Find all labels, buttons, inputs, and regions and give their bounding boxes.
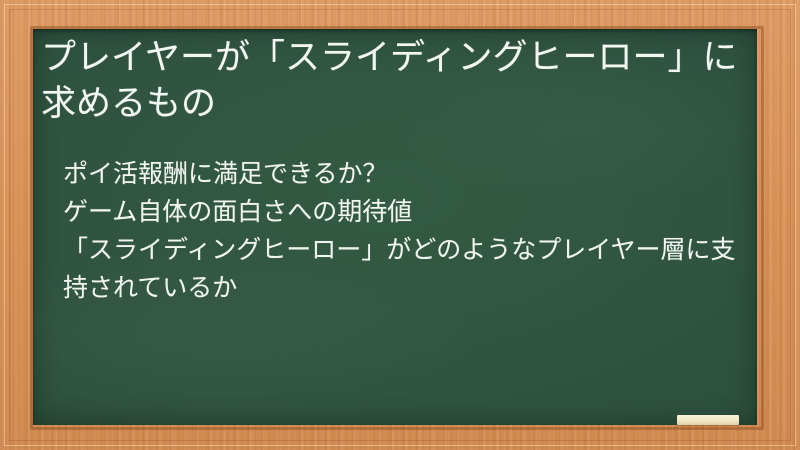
bullet-item-2: ゲーム自体の面白さへの期待値 — [41, 193, 741, 231]
slide-title: プレイヤーが「スライディングヒーロー」に求めるもの — [41, 35, 741, 127]
chalk-stick — [677, 415, 739, 425]
bullet-list: ポイ活報酬に満足できるか？ ゲーム自体の面白さへの期待値 「スライディングヒーロ… — [41, 155, 741, 307]
bullet-item-1: ポイ活報酬に満足できるか？ — [41, 155, 741, 193]
blackboard-slide: プレイヤーが「スライディングヒーロー」に求めるもの ポイ活報酬に満足できるか？ … — [0, 0, 800, 450]
board-content: プレイヤーが「スライディングヒーロー」に求めるもの ポイ活報酬に満足できるか？ … — [33, 29, 757, 425]
blackboard-surface: プレイヤーが「スライディングヒーロー」に求めるもの ポイ活報酬に満足できるか？ … — [33, 29, 757, 425]
bullet-item-3: 「スライディングヒーロー」がどのようなプレイヤー層に支持されているか — [41, 231, 741, 307]
